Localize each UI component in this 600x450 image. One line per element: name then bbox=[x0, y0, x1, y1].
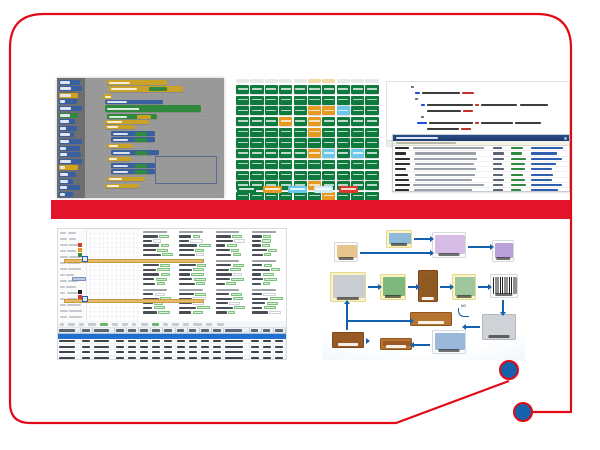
status-grid-column-header[interactable] bbox=[294, 79, 307, 83]
sheet-text-label[interactable] bbox=[179, 240, 189, 242]
table-cell[interactable] bbox=[151, 356, 163, 360]
palette-block[interactable] bbox=[59, 192, 73, 197]
sheet-row-header[interactable] bbox=[60, 315, 84, 319]
flow-node-unload[interactable] bbox=[380, 274, 406, 300]
code-block-slot[interactable] bbox=[135, 132, 147, 136]
code-block-slot[interactable] bbox=[149, 87, 167, 91]
sheet-text-value[interactable] bbox=[264, 306, 277, 309]
code-token[interactable] bbox=[421, 116, 424, 118]
gantt-milestone-node[interactable] bbox=[82, 296, 88, 302]
table-cell[interactable] bbox=[93, 344, 114, 349]
table-cell-value[interactable] bbox=[189, 357, 197, 359]
flow-node-label[interactable] bbox=[338, 343, 358, 345]
table-cell[interactable] bbox=[58, 344, 81, 349]
status-grid-cell[interactable] bbox=[337, 160, 350, 169]
palette-block-label[interactable] bbox=[60, 140, 70, 143]
table-cell-value[interactable] bbox=[128, 351, 136, 353]
log-row-status[interactable] bbox=[511, 168, 525, 170]
log-row-path[interactable] bbox=[415, 152, 477, 154]
server-icon[interactable] bbox=[435, 235, 465, 254]
data-table[interactable] bbox=[58, 321, 286, 360]
log-row[interactable] bbox=[393, 188, 569, 192]
table-cell-value[interactable] bbox=[251, 346, 259, 348]
palette-block[interactable] bbox=[59, 99, 78, 104]
legend-swatch-skipped[interactable] bbox=[314, 186, 333, 193]
status-grid-cell[interactable] bbox=[365, 85, 378, 94]
flow-arrowhead[interactable] bbox=[430, 250, 434, 256]
sheet-text-label[interactable] bbox=[252, 302, 266, 304]
status-grid-cell[interactable] bbox=[265, 171, 278, 180]
sheet-text-value[interactable] bbox=[262, 244, 270, 247]
flow-node-reject-return[interactable] bbox=[332, 332, 364, 348]
status-grid-cell[interactable] bbox=[351, 117, 364, 126]
sheet-text-row[interactable] bbox=[179, 278, 213, 281]
table-cell-value[interactable] bbox=[189, 346, 197, 348]
status-grid-column-header[interactable] bbox=[279, 79, 292, 83]
flow-arrow[interactable] bbox=[440, 286, 450, 288]
status-grid-cell[interactable] bbox=[322, 149, 335, 158]
sheet-text-row[interactable] bbox=[252, 235, 286, 238]
palette-block-label[interactable] bbox=[60, 193, 66, 196]
log-row-message[interactable] bbox=[531, 179, 552, 181]
sheet-text-row[interactable] bbox=[252, 311, 286, 314]
status-grid-cell[interactable] bbox=[351, 171, 364, 180]
table-cell[interactable] bbox=[224, 350, 249, 355]
palette-block[interactable] bbox=[59, 119, 76, 124]
code-token[interactable] bbox=[462, 92, 474, 94]
status-grid-cell[interactable] bbox=[365, 106, 378, 115]
table-cell[interactable] bbox=[163, 350, 175, 355]
log-row-tag[interactable] bbox=[395, 158, 410, 160]
sheet-text-label[interactable] bbox=[179, 269, 191, 271]
sheet-text-value[interactable] bbox=[271, 268, 280, 271]
sheet-text-row[interactable] bbox=[252, 297, 286, 300]
sheet-text-label[interactable] bbox=[179, 249, 194, 251]
status-grid-cell[interactable] bbox=[365, 117, 378, 126]
table-cell-value[interactable] bbox=[128, 357, 136, 359]
status-grid-cell[interactable] bbox=[308, 96, 321, 105]
sheet-text-value[interactable] bbox=[199, 244, 212, 247]
code-block[interactable] bbox=[105, 100, 163, 104]
sheet-row-id[interactable] bbox=[60, 256, 68, 258]
sheet-text-label[interactable] bbox=[143, 283, 155, 285]
table-cell[interactable] bbox=[127, 356, 139, 360]
status-grid-cell[interactable] bbox=[337, 138, 350, 147]
flow-arrow[interactable] bbox=[468, 246, 490, 248]
sheet-text-label[interactable] bbox=[252, 298, 269, 300]
sheet-row-id[interactable] bbox=[60, 274, 65, 276]
sheet-text-label[interactable] bbox=[252, 244, 261, 246]
log-console-panel[interactable] bbox=[392, 134, 570, 192]
table-toolbar-button[interactable] bbox=[163, 323, 168, 326]
status-grid-cell[interactable] bbox=[294, 128, 307, 137]
sheet-text-value[interactable] bbox=[197, 264, 206, 267]
table-cell[interactable] bbox=[212, 344, 224, 349]
sheet-text-label[interactable] bbox=[143, 240, 152, 242]
table-cell-value[interactable] bbox=[152, 346, 160, 348]
log-row-status[interactable] bbox=[511, 147, 523, 149]
sheet-row-label[interactable] bbox=[68, 268, 81, 270]
code-block[interactable] bbox=[103, 94, 112, 99]
table-cell-value[interactable] bbox=[263, 340, 271, 342]
sheet-text-value[interactable] bbox=[191, 273, 204, 276]
status-grid-cell[interactable] bbox=[279, 128, 292, 137]
sheet-row-id[interactable] bbox=[60, 244, 68, 246]
palette-block[interactable] bbox=[59, 132, 75, 137]
flow-arrowhead[interactable] bbox=[366, 338, 370, 344]
sheet-row-id[interactable] bbox=[60, 250, 66, 252]
sheet-text-value[interactable] bbox=[264, 264, 273, 267]
table-cell-value[interactable] bbox=[140, 340, 148, 342]
sheet-text-value[interactable] bbox=[231, 249, 239, 252]
status-grid-cell[interactable] bbox=[308, 171, 321, 180]
palette-block[interactable] bbox=[59, 80, 81, 85]
code-token[interactable] bbox=[520, 104, 548, 106]
status-grid-cell[interactable] bbox=[337, 149, 350, 158]
code-token[interactable] bbox=[463, 110, 473, 112]
status-grid-cell[interactable] bbox=[294, 117, 307, 126]
code-block-slot[interactable] bbox=[149, 170, 154, 174]
code-block-label[interactable] bbox=[109, 145, 118, 147]
table-toolbar-button[interactable] bbox=[100, 323, 108, 326]
code-block-label[interactable] bbox=[107, 185, 119, 187]
palette-block[interactable] bbox=[59, 179, 73, 184]
log-row-message[interactable] bbox=[531, 184, 562, 186]
log-row-path[interactable] bbox=[414, 168, 477, 170]
table-cell-value[interactable] bbox=[225, 340, 243, 342]
sheet-row-label[interactable] bbox=[68, 232, 76, 234]
log-row-path[interactable] bbox=[413, 184, 484, 186]
flow-arrow[interactable] bbox=[346, 320, 410, 322]
status-grid-cell[interactable] bbox=[322, 160, 335, 169]
code-block[interactable] bbox=[107, 80, 167, 85]
sheet-status-marker[interactable] bbox=[78, 248, 82, 252]
flow-arrow[interactable] bbox=[466, 326, 480, 328]
status-grid-cell[interactable] bbox=[265, 85, 278, 94]
table-cell-value[interactable] bbox=[152, 357, 160, 359]
status-grid-cell[interactable] bbox=[265, 96, 278, 105]
legend-swatch-warning[interactable] bbox=[263, 186, 282, 193]
sheet-text-row[interactable] bbox=[179, 282, 213, 285]
code-block[interactable] bbox=[107, 114, 157, 119]
table-cell-value[interactable] bbox=[213, 346, 221, 348]
status-grid-cell[interactable] bbox=[351, 96, 364, 105]
flow-arrowhead[interactable] bbox=[344, 300, 350, 304]
sheet-text-value[interactable] bbox=[158, 311, 170, 314]
log-row-tag[interactable] bbox=[395, 174, 408, 176]
palette-block[interactable] bbox=[59, 159, 83, 164]
code-block[interactable] bbox=[105, 184, 139, 188]
table-cell[interactable] bbox=[188, 350, 200, 355]
table-column-header[interactable] bbox=[151, 328, 163, 333]
table-cell[interactable] bbox=[93, 339, 114, 344]
code-block-label[interactable] bbox=[111, 88, 137, 90]
sheet-row-id[interactable] bbox=[60, 292, 65, 294]
status-grid-cell[interactable] bbox=[365, 149, 378, 158]
sheet-text-label[interactable] bbox=[143, 269, 156, 271]
sheet-text-row[interactable] bbox=[179, 306, 213, 309]
barcode-icon[interactable] bbox=[493, 277, 517, 294]
log-row-path[interactable] bbox=[415, 174, 476, 176]
status-grid-cell[interactable] bbox=[294, 85, 307, 94]
sheet-text-row[interactable] bbox=[179, 268, 213, 271]
sheet-text-label[interactable] bbox=[179, 278, 192, 280]
table-cell[interactable] bbox=[163, 339, 175, 344]
table-column-header[interactable] bbox=[127, 328, 139, 333]
table-cell-value[interactable] bbox=[275, 351, 283, 353]
sheet-text-value[interactable] bbox=[229, 302, 240, 305]
code-block-label[interactable] bbox=[113, 171, 128, 173]
sheet-text-row[interactable] bbox=[216, 273, 250, 276]
flow-node-supplier-delivery[interactable] bbox=[330, 272, 366, 302]
table-toolbar-button[interactable] bbox=[183, 323, 189, 326]
log-row-status[interactable] bbox=[511, 174, 523, 176]
sheet-text-label[interactable] bbox=[252, 311, 268, 313]
status-grid-cell[interactable] bbox=[337, 171, 350, 180]
log-row-message[interactable] bbox=[531, 158, 562, 160]
table-cell-value[interactable] bbox=[251, 357, 259, 359]
log-row-path[interactable] bbox=[413, 147, 484, 149]
status-grid-cell[interactable] bbox=[279, 149, 292, 158]
status-grid-cell[interactable] bbox=[337, 85, 350, 94]
sheet-text-label[interactable] bbox=[252, 240, 261, 242]
palette-block[interactable] bbox=[59, 172, 76, 177]
sheet-text-label[interactable] bbox=[252, 293, 262, 295]
sheet-text-value[interactable] bbox=[157, 249, 169, 252]
palette-block-label[interactable] bbox=[60, 133, 70, 136]
code-block-label[interactable] bbox=[109, 158, 117, 160]
sheet-text-label[interactable] bbox=[216, 235, 232, 237]
sheet-group-title[interactable] bbox=[143, 231, 167, 233]
sheet-text-value[interactable] bbox=[226, 282, 236, 285]
code-token[interactable] bbox=[475, 122, 479, 124]
status-grid-cell[interactable] bbox=[322, 96, 335, 105]
sheet-text-label[interactable] bbox=[216, 302, 228, 304]
sheet-text-value[interactable] bbox=[234, 239, 244, 242]
table-cell[interactable] bbox=[250, 350, 262, 355]
flow-node-receiving[interactable] bbox=[418, 270, 438, 302]
sheet-text-label[interactable] bbox=[143, 249, 156, 251]
log-row-line[interactable] bbox=[493, 179, 504, 181]
close-icon[interactable] bbox=[564, 137, 567, 140]
table-cell[interactable] bbox=[115, 350, 127, 355]
palette-block-label[interactable] bbox=[60, 114, 70, 117]
status-grid-cell[interactable] bbox=[308, 117, 321, 126]
sheet-text-value[interactable] bbox=[153, 239, 160, 242]
sheet-text-value[interactable] bbox=[196, 253, 203, 256]
status-grid-cell[interactable] bbox=[351, 138, 364, 147]
legend-swatch-info[interactable] bbox=[288, 186, 307, 193]
sheet-group-title[interactable] bbox=[216, 231, 240, 233]
sheet-text-row[interactable] bbox=[216, 311, 250, 314]
log-row-tag[interactable] bbox=[395, 189, 409, 191]
flow-node-label[interactable] bbox=[385, 295, 401, 297]
flow-node-inspection[interactable] bbox=[452, 274, 476, 300]
status-grid-cell[interactable] bbox=[322, 128, 335, 137]
code-block[interactable] bbox=[107, 144, 133, 148]
code-block[interactable] bbox=[105, 125, 135, 129]
sheet-text-row[interactable] bbox=[216, 239, 250, 242]
table-cell-value[interactable] bbox=[177, 346, 185, 348]
sheet-text-value[interactable] bbox=[155, 293, 165, 296]
table-cell-value[interactable] bbox=[59, 346, 75, 348]
sheet-group-title[interactable] bbox=[252, 231, 276, 233]
sheet-row-id[interactable] bbox=[60, 316, 67, 318]
sheet-text-label[interactable] bbox=[179, 293, 193, 295]
table-cell[interactable] bbox=[212, 339, 224, 344]
status-grid-cell[interactable] bbox=[308, 128, 321, 137]
gantt-chart-area[interactable] bbox=[86, 229, 140, 321]
table-toolbar[interactable] bbox=[58, 321, 286, 328]
gantt-task-tag[interactable] bbox=[72, 277, 86, 281]
status-grid-cell[interactable] bbox=[308, 160, 321, 169]
sheet-text-value[interactable] bbox=[233, 297, 243, 300]
palette-block-label[interactable] bbox=[60, 147, 67, 150]
status-grid-cell[interactable] bbox=[250, 96, 263, 105]
sheet-text-label[interactable] bbox=[252, 254, 263, 256]
table-cell[interactable] bbox=[139, 339, 151, 344]
table-cell[interactable] bbox=[115, 344, 127, 349]
sheet-text-label[interactable] bbox=[252, 273, 261, 275]
table-cell[interactable] bbox=[274, 339, 286, 344]
code-token[interactable] bbox=[427, 110, 461, 112]
status-grid-column-header[interactable] bbox=[250, 79, 263, 83]
sheet-status-marker[interactable] bbox=[78, 290, 82, 294]
sheet-text-label[interactable] bbox=[179, 254, 195, 256]
sheet-text-value[interactable] bbox=[161, 273, 171, 276]
palette-block[interactable] bbox=[59, 113, 78, 118]
table-cell[interactable] bbox=[250, 339, 262, 344]
table-column-header[interactable] bbox=[188, 328, 200, 333]
sheet-text-value[interactable] bbox=[190, 239, 203, 242]
status-grid-cell[interactable] bbox=[265, 160, 278, 169]
table-cell-value[interactable] bbox=[275, 357, 283, 359]
table-cell[interactable] bbox=[139, 344, 151, 349]
flow-node-label[interactable] bbox=[386, 345, 406, 347]
palette-block-label[interactable] bbox=[60, 81, 71, 84]
palette-block[interactable] bbox=[59, 146, 80, 151]
sheet-text-label[interactable] bbox=[252, 264, 263, 266]
code-block-slot[interactable] bbox=[171, 87, 180, 91]
sheet-text-label[interactable] bbox=[143, 264, 159, 266]
log-row-line[interactable] bbox=[493, 184, 503, 186]
table-column-title[interactable] bbox=[116, 329, 124, 331]
log-row-status[interactable] bbox=[511, 179, 525, 181]
sheet-text-value[interactable] bbox=[193, 268, 204, 271]
sheet-text-group[interactable] bbox=[143, 260, 177, 285]
sheet-text-group[interactable] bbox=[216, 260, 250, 285]
sheet-text-value[interactable] bbox=[157, 282, 166, 285]
flow-node-label[interactable] bbox=[488, 335, 509, 337]
log-row-line[interactable] bbox=[493, 174, 503, 176]
sheet-row-header[interactable] bbox=[60, 285, 84, 289]
status-grid-cell[interactable] bbox=[294, 149, 307, 158]
sheet-group-title[interactable] bbox=[252, 260, 276, 262]
status-grid-cell[interactable] bbox=[294, 96, 307, 105]
table-column-header[interactable] bbox=[115, 328, 127, 333]
palette-block[interactable] bbox=[59, 126, 77, 131]
flow-arrow[interactable] bbox=[346, 304, 348, 330]
sheet-text-label[interactable] bbox=[143, 278, 154, 280]
sheet-text-value[interactable] bbox=[227, 244, 238, 247]
sheet-text-row[interactable] bbox=[143, 244, 177, 247]
status-grid-cell[interactable] bbox=[308, 85, 321, 94]
code-block-slot[interactable] bbox=[149, 164, 154, 168]
flow-node-label[interactable] bbox=[391, 243, 407, 245]
table-cell-value[interactable] bbox=[251, 351, 259, 353]
code-block-label[interactable] bbox=[109, 116, 127, 118]
sheet-text-row[interactable] bbox=[216, 306, 250, 309]
status-grid-cell[interactable] bbox=[265, 128, 278, 137]
flow-arrowhead[interactable] bbox=[462, 324, 466, 330]
table-cell-value[interactable] bbox=[152, 340, 160, 342]
table-cell-value[interactable] bbox=[213, 340, 221, 342]
status-grid-cell[interactable] bbox=[279, 160, 292, 169]
code-block-label[interactable] bbox=[107, 126, 118, 128]
status-grid-cell[interactable] bbox=[337, 128, 350, 137]
sheet-text-row[interactable] bbox=[216, 249, 250, 252]
table-cell-value[interactable] bbox=[263, 357, 271, 359]
table-cell[interactable] bbox=[200, 356, 212, 360]
code-block-slot[interactable] bbox=[149, 132, 154, 136]
code-block-label[interactable] bbox=[109, 82, 130, 84]
sheet-text-row[interactable] bbox=[252, 282, 286, 285]
sheet-text-label[interactable] bbox=[216, 254, 232, 256]
sheet-text-value[interactable] bbox=[269, 311, 281, 314]
table-cell-value[interactable] bbox=[128, 340, 136, 342]
sheet-text-label[interactable] bbox=[216, 273, 232, 275]
sheet-row-label[interactable] bbox=[67, 250, 76, 252]
palette-block-label[interactable] bbox=[60, 87, 72, 90]
sheet-text-row[interactable] bbox=[143, 273, 177, 276]
sheet-text-row[interactable] bbox=[252, 306, 286, 309]
sheet-text-label[interactable] bbox=[216, 283, 226, 285]
sheet-text-value[interactable] bbox=[197, 306, 209, 309]
sheet-text-group[interactable] bbox=[252, 260, 286, 285]
table-cell-value[interactable] bbox=[94, 351, 109, 353]
code-block-slot[interactable] bbox=[149, 138, 154, 142]
table-cell[interactable] bbox=[151, 339, 163, 344]
sheet-text-value[interactable] bbox=[193, 235, 200, 238]
sheet-text-label[interactable] bbox=[216, 244, 226, 246]
flow-node-scan-entry[interactable] bbox=[482, 314, 516, 340]
log-row-line[interactable] bbox=[493, 152, 504, 154]
status-grid-cell[interactable] bbox=[365, 128, 378, 137]
table-toolbar-button[interactable] bbox=[193, 323, 202, 326]
flow-arrowhead[interactable] bbox=[410, 318, 414, 324]
sheet-text-value[interactable] bbox=[233, 273, 242, 276]
sheet-group-title[interactable] bbox=[216, 260, 240, 262]
table-cell-value[interactable] bbox=[177, 340, 185, 342]
table-cell-value[interactable] bbox=[116, 346, 124, 348]
sheet-text-row[interactable] bbox=[143, 311, 177, 314]
code-block[interactable] bbox=[107, 177, 145, 181]
document-icon[interactable] bbox=[455, 277, 475, 296]
table-cell-value[interactable] bbox=[164, 351, 172, 353]
flow-arrowhead[interactable] bbox=[450, 284, 454, 290]
status-grid-cell[interactable] bbox=[294, 138, 307, 147]
status-grid-cell[interactable] bbox=[279, 96, 292, 105]
table-cell[interactable] bbox=[250, 356, 262, 360]
log-row-line[interactable] bbox=[493, 147, 502, 149]
table-cell[interactable] bbox=[200, 344, 212, 349]
table-cell[interactable] bbox=[115, 356, 127, 360]
table-cell-value[interactable] bbox=[94, 340, 109, 342]
sheet-text-row[interactable] bbox=[216, 264, 250, 267]
sheet-text-label[interactable] bbox=[216, 307, 234, 309]
sheet-text-label[interactable] bbox=[252, 278, 263, 280]
code-block[interactable] bbox=[111, 163, 155, 168]
